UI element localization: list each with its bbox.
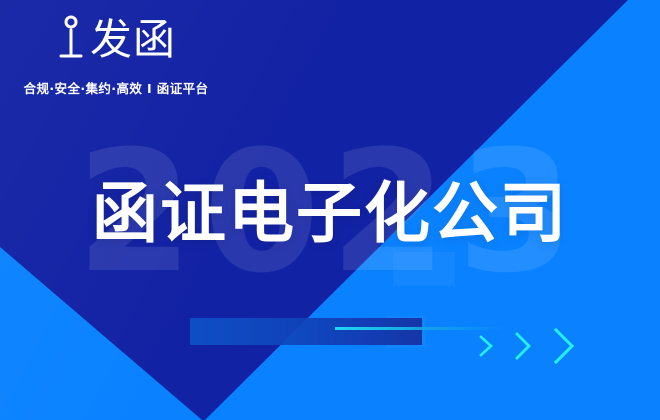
decorative-panel-upper: [393, 252, 455, 286]
logo-subtitle: 合规·安全·集约·高效 I 函证平台: [20, 78, 212, 97]
logo-block: 发函 合规·安全·集约·高效 I 函证平台: [20, 14, 212, 97]
gradient-accent-bar: [190, 318, 422, 345]
headline-container: 函证电子化公司: [0, 178, 660, 249]
person-fahan-logo-icon: [56, 13, 86, 67]
logo-wordmark: 发函: [90, 19, 176, 61]
page-title: 函证电子化公司: [92, 178, 568, 249]
chevron-right-icon-medium: [514, 331, 533, 365]
banner-poster: 2023 发函 合规·安全·集约·高效 I 函证平台 函证电子化公司: [0, 0, 660, 420]
logo-row: 发函: [20, 14, 212, 66]
chevron-right-icon-small: [478, 334, 494, 362]
chevron-right-icon-large: [553, 327, 576, 369]
chevron-group: [478, 327, 576, 369]
